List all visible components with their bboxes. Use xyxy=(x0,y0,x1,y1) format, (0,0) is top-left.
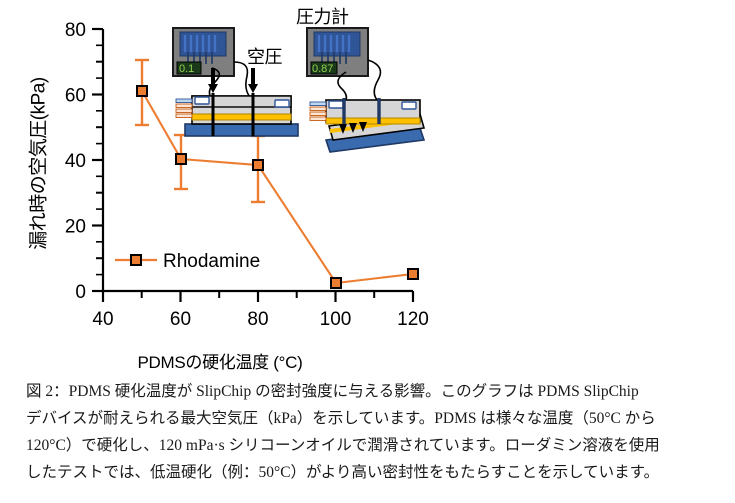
gauge-reading-left: 0.1 xyxy=(179,63,194,75)
x-tick-label-80: 80 xyxy=(247,309,268,330)
caption-line-1: 図 2：PDMS 硬化温度が SlipChip の密封強度に与える影響。このグラ… xyxy=(26,378,716,405)
annotation-air-pressure: 空圧 xyxy=(247,43,282,69)
inset-right-slipped-device: 0.87 xyxy=(307,28,424,152)
x-tick-label-60: 60 xyxy=(170,309,191,330)
chart-legend: Rhodamine xyxy=(115,251,260,272)
y-tick-label-20: 20 xyxy=(65,217,86,238)
inlet-ports-right xyxy=(310,102,326,121)
x-axis-title: PDMSの硬化温度 (°C) xyxy=(100,348,340,373)
chart-plot: 80 60 40 20 0 40 60 80 100 120 xyxy=(0,0,735,340)
y-axis xyxy=(92,29,103,291)
caption-line-3: 120°C）で硬化し、120 mPa·s シリコーンオイルで潤滑されています。ロ… xyxy=(26,432,716,459)
x-axis xyxy=(103,291,413,302)
y-tick-label-60: 60 xyxy=(65,86,86,107)
device-left xyxy=(176,93,298,136)
caption-line-4: したテストでは、低温硬化（例：50°C）がより高い密封性をもたらすことを示してい… xyxy=(26,459,716,486)
x-tick-label-40: 40 xyxy=(92,309,113,330)
figure-container: 80 60 40 20 0 40 60 80 100 120 xyxy=(0,0,735,340)
legend-label-rhodamine: Rhodamine xyxy=(163,251,260,272)
pressure-gauge-right: 0.87 xyxy=(307,28,368,76)
y-axis-title: 漏れ時の空気圧(kPa) xyxy=(24,49,51,279)
caption-line-2: デバイスが耐えられる最大空気圧（kPa）を示しています。PDMS は様々な温度（… xyxy=(26,405,716,432)
y-tick-label-40: 40 xyxy=(65,151,86,172)
annotation-pressure-gauge: 圧力計 xyxy=(296,3,349,29)
figure-caption: 図 2：PDMS 硬化温度が SlipChip の密封強度に与える影響。このグラ… xyxy=(26,378,716,486)
y-tick-label-0: 0 xyxy=(75,282,86,303)
inlet-ports-left xyxy=(176,99,192,118)
device-right xyxy=(310,98,424,152)
y-tick-label-80: 80 xyxy=(65,20,86,41)
gauge-reading-right: 0.87 xyxy=(312,63,333,75)
pressure-gauge-left: 0.1 xyxy=(173,28,234,76)
x-tick-label-120: 120 xyxy=(397,309,429,330)
legend-marker xyxy=(131,255,141,265)
x-tick-label-100: 100 xyxy=(320,309,352,330)
